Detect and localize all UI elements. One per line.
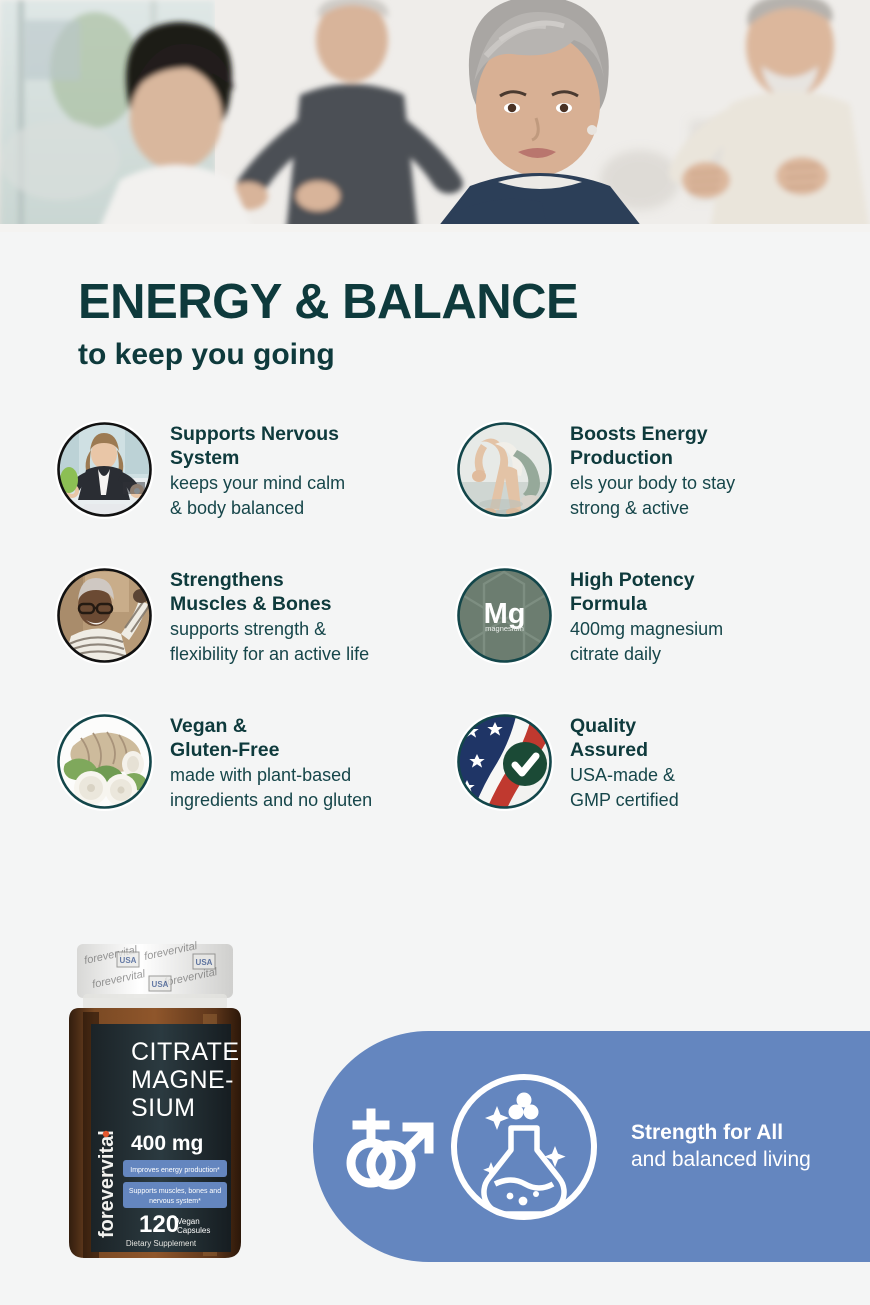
feature-desc-line1: supports strength & — [170, 617, 369, 641]
flask-sparkle-icon — [445, 1068, 603, 1226]
feature-text: Supports Nervous System keeps your mind … — [154, 420, 345, 520]
banner-text: Strength for All and balanced living — [631, 1120, 811, 1173]
feature-title-line2: System — [170, 446, 345, 470]
seal-flag-label: USA — [120, 956, 137, 965]
badge-label: magnesium — [485, 624, 524, 633]
feature-title-line2: Assured — [570, 738, 679, 762]
strength-banner: Strength for All and balanced living — [313, 1031, 870, 1262]
feature-row: Supports Nervous System keeps your mind … — [55, 420, 855, 520]
bottle-claim-1: Improves energy production* — [130, 1167, 220, 1174]
feature-item-quality-assured: Quality Assured USA-made & GMP certified — [455, 712, 855, 812]
feature-text: Boosts Energy Production els your body t… — [554, 420, 735, 520]
feature-item-energy-production: Boosts Energy Production els your body t… — [455, 420, 855, 520]
bottle-brand: forevervital — [96, 1130, 118, 1238]
banner-subtitle: and balanced living — [631, 1146, 811, 1173]
magnesium-badge-icon: Mg magnesium — [455, 566, 554, 665]
feature-row: Vegan & Gluten-Free made with plant-base… — [55, 712, 855, 812]
feature-item-muscles-bones: Strengthens Muscles & Bones supports str… — [55, 566, 455, 666]
feature-title-line1: Strengthens — [170, 568, 369, 592]
feature-text: High Potency Formula 400mg magnesium cit… — [554, 566, 723, 666]
feature-title-line2: Formula — [570, 592, 723, 616]
feature-grid: Supports Nervous System keeps your mind … — [55, 420, 855, 858]
feature-desc-line1: 400mg magnesium — [570, 617, 723, 641]
feature-desc-line2: flexibility for an active life — [170, 642, 369, 666]
bottle-count-label-line1: Vegan — [177, 1217, 200, 1226]
feature-desc-line2: & body balanced — [170, 496, 345, 520]
feature-desc-line1: els your body to stay — [570, 471, 735, 495]
feature-desc-line1: USA-made & — [570, 763, 679, 787]
feature-text: Vegan & Gluten-Free made with plant-base… — [154, 712, 372, 812]
feature-title-line2: Gluten-Free — [170, 738, 372, 762]
bottle-name-line3: SIUM — [131, 1094, 196, 1122]
male-female-symbols-icon — [335, 1095, 439, 1199]
bottle-claim-2-line2: nervous system* — [149, 1198, 201, 1205]
page-subtitle: to keep you going — [78, 334, 335, 376]
usa-flag-check-icon — [455, 712, 554, 811]
seal-flag-label: USA — [152, 980, 169, 989]
feature-row: Strengthens Muscles & Bones supports str… — [55, 566, 855, 666]
root-vegetable-icon — [55, 712, 154, 811]
feature-item-vegan-gluten-free: Vegan & Gluten-Free made with plant-base… — [55, 712, 455, 812]
yoga-pose-icon — [455, 420, 554, 519]
feature-title-line1: Vegan & — [170, 714, 372, 738]
bottle-name-line1: CITRATE — [131, 1038, 240, 1066]
product-bottle: forevervital forevervital forevervital f… — [53, 938, 293, 1268]
bottle-count-label-line2: Capsules — [177, 1226, 210, 1235]
feature-desc-line2: strong & active — [570, 496, 735, 520]
feature-item-high-potency: Mg magnesium High Potency Formula 400mg … — [455, 566, 855, 666]
feature-text: Quality Assured USA-made & GMP certified — [554, 712, 679, 812]
banner-title: Strength for All — [631, 1120, 811, 1146]
meditating-woman-icon — [55, 420, 154, 519]
hero-photo — [0, 0, 870, 232]
feature-title-line2: Production — [570, 446, 735, 470]
bottle-name-line2: MAGNE- — [131, 1066, 234, 1094]
feature-desc-line2: ingredients and no gluten — [170, 788, 372, 812]
feature-title-line1: Supports Nervous — [170, 422, 345, 446]
bottle-supplement-label: Dietary Supplement — [126, 1239, 197, 1248]
page-title: ENERGY & BALANCE — [78, 276, 578, 328]
feature-desc-line2: GMP certified — [570, 788, 679, 812]
bottle-dose: 400 mg — [131, 1132, 203, 1155]
senior-woman-icon — [55, 566, 154, 665]
feature-desc-line1: keeps your mind calm — [170, 471, 345, 495]
feature-desc-line2: citrate daily — [570, 642, 723, 666]
feature-title-line1: Boosts Energy — [570, 422, 735, 446]
feature-title-line1: Quality — [570, 714, 679, 738]
feature-item-nervous-system: Supports Nervous System keeps your mind … — [55, 420, 455, 520]
feature-text: Strengthens Muscles & Bones supports str… — [154, 566, 369, 666]
bottle-claim-2-line1: Supports muscles, bones and — [129, 1188, 221, 1195]
bottle-count: 120 — [139, 1211, 179, 1238]
feature-desc-line1: made with plant-based — [170, 763, 372, 787]
feature-title-line1: High Potency — [570, 568, 723, 592]
infographic-page: ENERGY & BALANCE to keep you going — [0, 0, 870, 1305]
seal-flag-label: USA — [196, 958, 213, 967]
feature-title-line2: Muscles & Bones — [170, 592, 369, 616]
